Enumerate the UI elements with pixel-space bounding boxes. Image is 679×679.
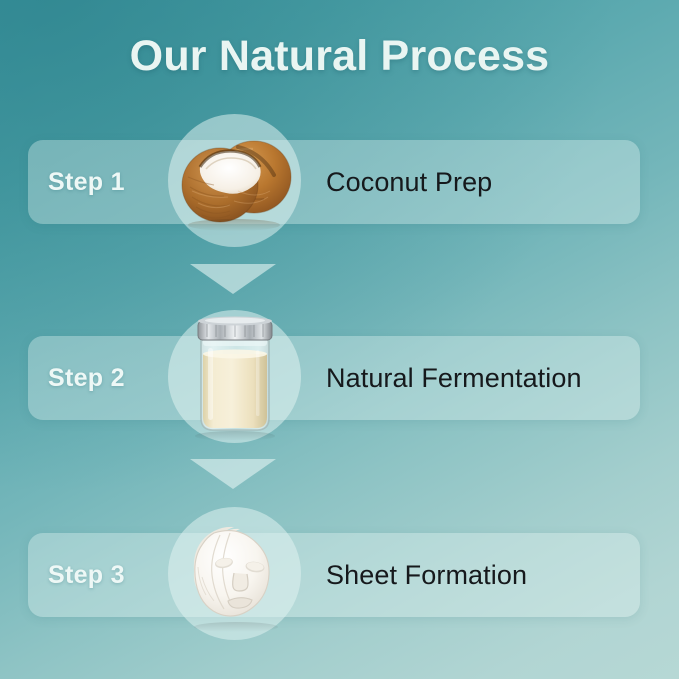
process-step-3: Step 3	[0, 515, 679, 635]
sheet-mask-icon	[168, 507, 301, 640]
process-infographic: Our Natural Process Step 1	[0, 0, 679, 679]
process-step-1: Step 1	[0, 122, 679, 242]
step-number-label: Step 3	[48, 533, 168, 617]
step-number-label: Step 1	[48, 140, 168, 224]
process-step-2: Step 2	[0, 318, 679, 438]
coconut-icon	[168, 114, 301, 247]
fermentation-jar-icon	[168, 310, 301, 443]
arrow-step2-to-step3	[190, 459, 276, 489]
step-number-label: Step 2	[48, 336, 168, 420]
step-description: Sheet Formation	[326, 533, 626, 617]
step-description: Coconut Prep	[326, 140, 626, 224]
step-description: Natural Fermentation	[326, 336, 626, 420]
page-title: Our Natural Process	[0, 32, 679, 81]
arrow-step1-to-step2	[190, 264, 276, 294]
